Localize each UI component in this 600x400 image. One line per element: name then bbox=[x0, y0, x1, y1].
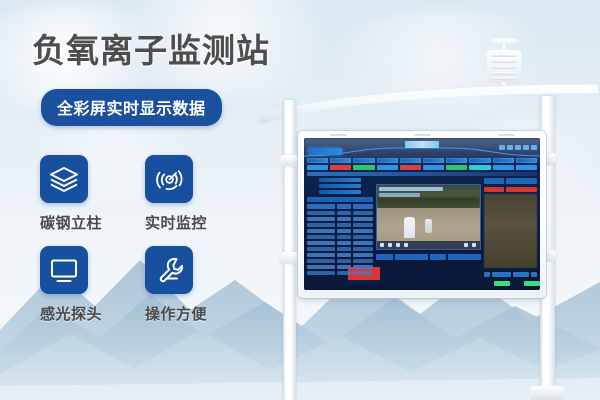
radar-monitor-icon bbox=[145, 155, 193, 203]
kpi-card[interactable] bbox=[330, 158, 351, 170]
kpi-card[interactable] bbox=[423, 158, 444, 170]
table-row[interactable] bbox=[307, 217, 373, 221]
kpi-card[interactable] bbox=[377, 158, 398, 170]
stat-row bbox=[319, 178, 361, 182]
vent-slot bbox=[330, 134, 347, 136]
stat-row bbox=[319, 184, 361, 188]
table-row[interactable] bbox=[307, 247, 373, 251]
detail-panel bbox=[484, 178, 537, 287]
live-video-feed[interactable] bbox=[376, 184, 481, 250]
detail-panel-header[interactable] bbox=[484, 178, 537, 184]
table-row[interactable] bbox=[307, 241, 373, 245]
kpi-card[interactable] bbox=[446, 158, 467, 170]
feature-label: 操作方便 bbox=[145, 303, 250, 324]
data-table-panel bbox=[307, 178, 373, 287]
table-row[interactable] bbox=[307, 223, 373, 227]
feature-label: 碳钢立柱 bbox=[40, 212, 145, 233]
table-row[interactable] bbox=[307, 265, 373, 269]
video-selector-row[interactable] bbox=[376, 254, 481, 260]
feature-grid: 碳钢立柱 实时监控 bbox=[40, 155, 250, 337]
table-row[interactable] bbox=[307, 271, 373, 275]
feature-label: 感光探头 bbox=[40, 303, 145, 324]
video-osd-text bbox=[379, 193, 420, 197]
snapshot-image bbox=[484, 194, 537, 268]
display-screen-frame bbox=[298, 131, 546, 298]
table-row[interactable] bbox=[307, 229, 373, 233]
kpi-card[interactable] bbox=[469, 158, 490, 170]
feature-item-easy-operation[interactable]: 操作方便 bbox=[145, 246, 250, 337]
dashboard-screen[interactable] bbox=[304, 138, 540, 290]
feature-item-realtime-monitoring[interactable]: 实时监控 bbox=[145, 155, 250, 246]
layers-icon bbox=[40, 155, 88, 203]
table-row[interactable] bbox=[307, 235, 373, 239]
kpi-card-row bbox=[307, 158, 537, 170]
wrench-icon bbox=[145, 246, 193, 294]
section-divider bbox=[307, 172, 537, 176]
dashboard-header-icons[interactable] bbox=[499, 145, 537, 150]
vent-slot bbox=[414, 134, 431, 136]
table-row[interactable] bbox=[307, 253, 373, 257]
dashboard-nav-tag[interactable] bbox=[308, 148, 342, 155]
feature-label: 实时监控 bbox=[145, 212, 250, 233]
table-row[interactable] bbox=[307, 259, 373, 263]
video-subject bbox=[404, 217, 415, 238]
subtitle-badge: 全彩屏实时显示数据 bbox=[41, 89, 222, 126]
numeric-readout bbox=[494, 281, 540, 286]
dashboard-title-bar bbox=[405, 141, 439, 148]
table-title-row bbox=[307, 197, 373, 202]
feature-item-light-sensor[interactable]: 感光探头 bbox=[40, 246, 145, 337]
video-osd-text bbox=[379, 187, 443, 191]
pole-base-plate bbox=[530, 386, 564, 400]
kpi-card[interactable] bbox=[516, 158, 537, 170]
page-title: 负氧离子监测站 bbox=[32, 24, 270, 72]
marketing-content: 负氧离子监测站 全彩屏实时显示数据 碳钢立柱 bbox=[0, 0, 300, 400]
kpi-card[interactable] bbox=[353, 158, 374, 170]
alert-row bbox=[484, 187, 537, 192]
kpi-card[interactable] bbox=[493, 158, 514, 170]
kpi-card[interactable] bbox=[400, 158, 421, 170]
vent-slot bbox=[498, 134, 515, 136]
table-row[interactable] bbox=[307, 211, 373, 215]
video-controls[interactable] bbox=[377, 241, 480, 249]
stat-row bbox=[319, 190, 361, 194]
kpi-card[interactable] bbox=[307, 158, 328, 170]
monitor-screen-icon bbox=[40, 246, 88, 294]
table-header-row bbox=[307, 204, 373, 209]
feature-item-steel-column[interactable]: 碳钢立柱 bbox=[40, 155, 145, 246]
sensor-radiation-shield bbox=[487, 50, 521, 83]
detail-panel-footer[interactable] bbox=[484, 272, 537, 277]
video-subject bbox=[425, 219, 432, 233]
